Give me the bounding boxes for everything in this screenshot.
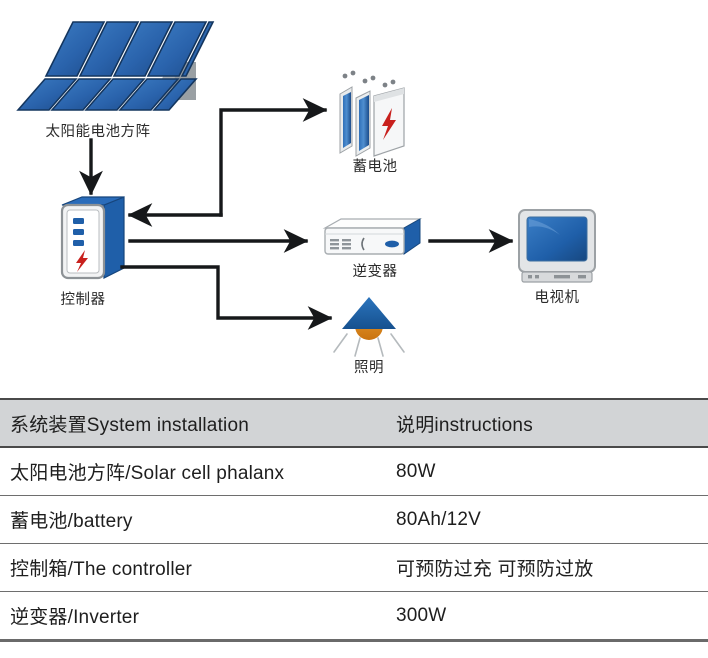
cell-device: 太阳电池方阵/Solar cell phalanx (0, 447, 388, 496)
controller-led-1 (73, 218, 84, 224)
controller-icon (62, 197, 124, 278)
table-row: 控制箱/The controller 可预防过充 可预防过放 (0, 544, 708, 592)
lamp-shade (342, 297, 396, 329)
inverter-power-button (385, 241, 399, 248)
label-controller: 控制器 (38, 288, 128, 309)
solar-panel-row-top (46, 22, 213, 76)
solar-panel-array-icon (18, 22, 213, 110)
cell-device: 蓄电池/battery (0, 496, 388, 544)
controller-led-3 (73, 240, 84, 246)
label-inverter: 逆变器 (320, 260, 430, 281)
label-battery: 蓄电池 (320, 155, 430, 176)
diagram-arrows (91, 110, 511, 318)
table-row: 蓄电池/battery 80Ah/12V (0, 496, 708, 544)
cell-spec: 300W (388, 592, 708, 641)
label-television: 电视机 (510, 286, 604, 307)
table-row: 太阳电池方阵/Solar cell phalanx 80W (0, 447, 708, 496)
inverter-icon (325, 219, 420, 254)
cell-spec: 可预防过充 可预防过放 (388, 544, 708, 592)
battery-terminals (343, 71, 396, 88)
label-solar-array: 太阳能电池方阵 (8, 120, 188, 141)
battery-icon (340, 71, 404, 156)
arrow-controller-to-lighting (122, 267, 330, 318)
system-diagram: 太阳能电池方阵 蓄电池 控制器 逆变器 电视机 照明 (0, 0, 708, 395)
table-row: 逆变器/Inverter 300W (0, 592, 708, 641)
television-icon (519, 210, 595, 282)
cell-spec: 80Ah/12V (388, 496, 708, 544)
system-spec-table: 系统装置System installation 说明instructions 太… (0, 398, 708, 642)
diagram-canvas (0, 0, 708, 395)
table-header-spec: 说明instructions (388, 399, 708, 447)
table-header-device: 系统装置System installation (0, 399, 388, 447)
arrow-controller-to-battery (221, 110, 325, 215)
table-header-row: 系统装置System installation 说明instructions (0, 399, 708, 447)
controller-led-2 (73, 229, 84, 235)
cell-device: 控制箱/The controller (0, 544, 388, 592)
cell-device: 逆变器/Inverter (0, 592, 388, 641)
lamp-icon (334, 297, 404, 356)
label-lighting: 照明 (334, 356, 404, 377)
solar-panel-row-bottom (18, 79, 196, 110)
cell-spec: 80W (388, 447, 708, 496)
